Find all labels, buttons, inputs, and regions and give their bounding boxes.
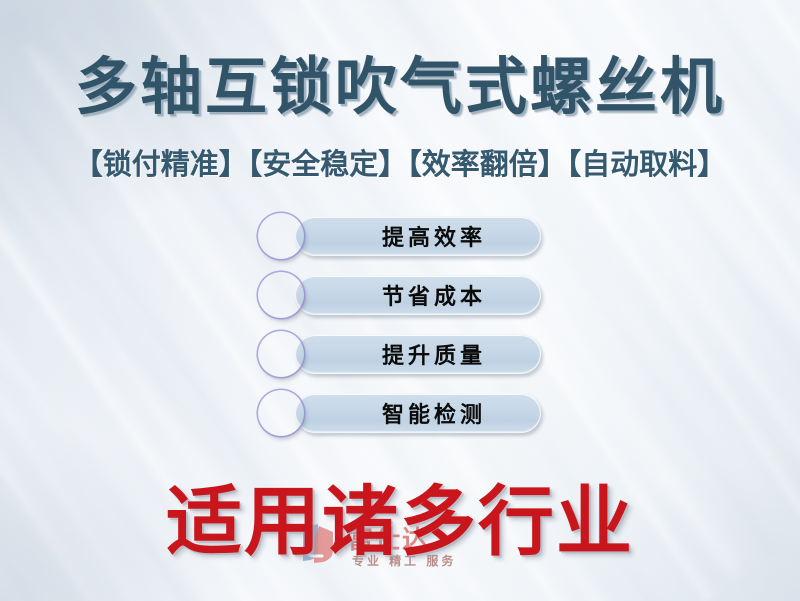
feature-pill: 提升质量 (295, 334, 541, 374)
list-item: 提升质量 (252, 331, 552, 377)
feature-label: 智能检测 (350, 397, 486, 429)
feature-pill: 节省成本 (295, 275, 541, 315)
feature-list: 提高效率 节省成本 提升质量 智能检测 (252, 213, 552, 449)
bullet-dot-icon (258, 390, 304, 436)
page-subtitle: 【锁付精准】【安全稳定】【效率翻倍】【自动取料】 (0, 141, 800, 183)
list-item: 智能检测 (252, 390, 552, 436)
bullet-dot-icon (258, 272, 304, 318)
bullet-dot-icon (258, 331, 304, 377)
feature-label: 提高效率 (350, 220, 486, 252)
feature-label: 提升质量 (350, 338, 486, 370)
list-item: 节省成本 (252, 272, 552, 318)
feature-pill: 提高效率 (295, 216, 541, 256)
bottom-banner-text: 适用诸多行业 (0, 460, 800, 570)
feature-label: 节省成本 (350, 279, 486, 311)
bullet-dot-icon (258, 213, 304, 259)
page-title: 多轴互锁吹气式螺丝机 (0, 54, 800, 119)
poster-canvas: 多轴互锁吹气式螺丝机 【锁付精准】【安全稳定】【效率翻倍】【自动取料】 提高效率… (0, 0, 800, 601)
feature-pill: 智能检测 (295, 393, 541, 433)
list-item: 提高效率 (252, 213, 552, 259)
